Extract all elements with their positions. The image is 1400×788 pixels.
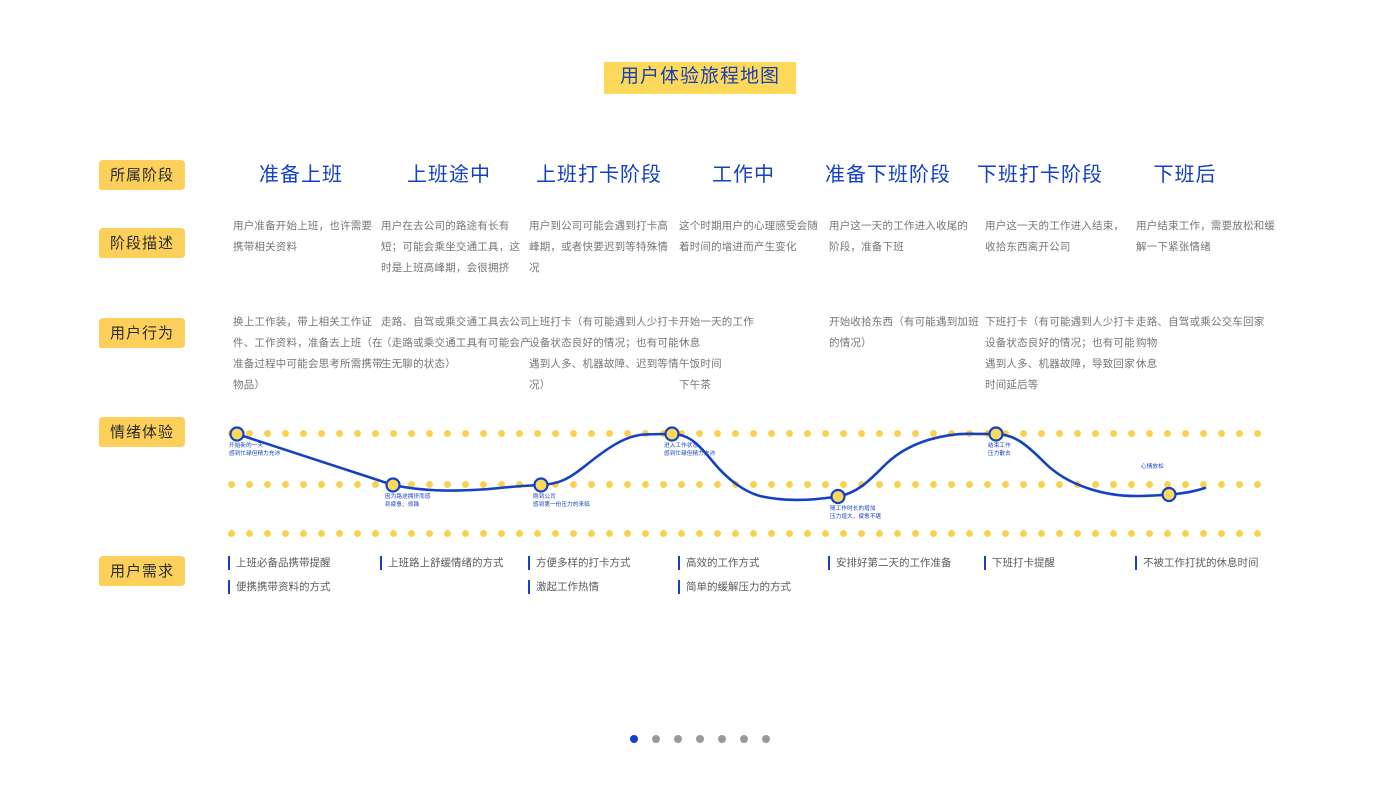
need-item-2-0: 方便多样的打卡方式 [528,556,631,570]
need-item-0-0: 上班必备品携带提醒 [228,556,331,570]
emotion-annotation-5-line2: 压力散去 [988,450,1011,458]
column-header-4: 准备下班阶段 [813,158,963,187]
pagination-dot-4[interactable] [696,735,704,743]
behavior-cell-6: 走路、自驾或乘公交车回家 购物 休息 [1136,312,1286,375]
description-cell-3: 这个时期用户的心理感受会随着时间的增进而产生变化 [679,216,825,258]
description-cell-0: 用户准备开始上班，也许需要携带相关资料 [233,216,379,258]
pagination-dot-1[interactable] [630,735,638,743]
emotion-point-4[interactable] [832,490,845,503]
description-cell-1: 用户在去公司的路途有长有短；可能会乘坐交通工具，这时是上班高峰期，会很拥挤 [381,216,527,279]
description-cell-5: 用户这一天的工作进入结束，收拾东西离开公司 [985,216,1131,258]
pagination[interactable] [0,735,1400,743]
emotion-curve-svg [0,408,1400,548]
pagination-dot-7[interactable] [762,735,770,743]
row-label-needs: 用户需求 [99,556,185,586]
need-item-3-0: 高效的工作方式 [678,556,760,570]
need-item-2-1: 激起工作热情 [528,580,599,594]
emotion-point-2[interactable] [535,479,548,492]
behavior-cell-5: 下班打卡（有可能遇到人少打卡设备状态良好的情况；也有可能遇到人多、机器故障，导致… [985,312,1135,396]
behavior-cell-0: 换上工作装，带上相关工作证件、工作资料，准备去上班（在准备过程中可能会思考所需携… [233,312,383,396]
need-item-0-1: 便携携带资料的方式 [228,580,331,594]
emotion-annotation-6-line1: 心情放松 [1141,463,1164,471]
emotion-curve-path [237,434,1205,500]
emotion-annotation-3-line2: 感到忙碌但精力充沛 [664,450,715,458]
emotion-point-3[interactable] [666,428,679,441]
pagination-dot-5[interactable] [718,735,726,743]
emotion-annotation-4-line2: 压力增大，疲惫不堪 [830,513,881,521]
journey-map-canvas: 用户体验旅程地图 所属阶段 阶段描述 用户行为 情绪体验 用户需求 准备上班 上… [0,0,1400,788]
emotion-annotation-0-line2: 感到忙碌但精力充沛 [229,450,280,458]
need-item-4-0: 安排好第二天的工作准备 [828,556,952,570]
need-item-5-0: 下班打卡提醒 [984,556,1055,570]
column-header-3: 工作中 [676,158,811,187]
need-item-1-0: 上班路上舒缓情绪的方式 [380,556,504,570]
emotion-point-5[interactable] [990,428,1003,441]
emotion-annotation-1-line2: 到疲惫、烦躁 [385,501,419,509]
behavior-cell-1: 走路、自驾或乘交通工具去公司（走路或乘交通工具有可能会产生无聊的状态） [381,312,531,375]
column-header-5: 下班打卡阶段 [965,158,1115,187]
row-label-stage: 所属阶段 [99,160,185,190]
row-label-behavior: 用户行为 [99,318,185,348]
behavior-cell-3: 开始一天的工作 休息 午饭时间 下午茶 [679,312,829,396]
pagination-dot-3[interactable] [674,735,682,743]
behavior-cell-2: 上班打卡（有可能遇到人少打卡设备状态良好的情况；也有可能遇到人多、机器故障、迟到… [529,312,679,396]
need-item-6-0: 不被工作打扰的休息时间 [1135,556,1259,570]
emotion-journey-chart: 开始新的一天 感到忙碌但精力充沛 因为路途拥挤而感 到疲惫、烦躁 刚到公司 感到… [0,408,1400,548]
row-label-description: 阶段描述 [99,228,185,258]
column-header-1: 上班途中 [376,158,522,187]
description-cell-6: 用户结束工作，需要放松和缓解一下紧张情绪 [1136,216,1282,258]
column-header-6: 下班后 [1118,158,1252,187]
description-cell-4: 用户这一天的工作进入收尾的阶段，准备下班 [829,216,975,258]
emotion-point-0[interactable] [231,428,244,441]
description-cell-2: 用户到公司可能会遇到打卡高峰期，或者快要迟到等特殊情况 [529,216,675,279]
emotion-point-1[interactable] [387,479,400,492]
pagination-dot-2[interactable] [652,735,660,743]
emotion-point-6[interactable] [1163,488,1176,501]
emotion-annotation-2-line2: 感到第一份压力的来临 [533,501,590,509]
column-header-2: 上班打卡阶段 [524,158,674,187]
pagination-dot-6[interactable] [740,735,748,743]
page-title-wrap: 用户体验旅程地图 [0,62,1400,94]
page-title: 用户体验旅程地图 [604,62,796,94]
behavior-cell-4: 开始收拾东西（有可能遇到加班的情况） [829,312,979,354]
column-header-0: 准备上班 [228,158,374,187]
need-item-3-1: 简单的缓解压力的方式 [678,580,791,594]
